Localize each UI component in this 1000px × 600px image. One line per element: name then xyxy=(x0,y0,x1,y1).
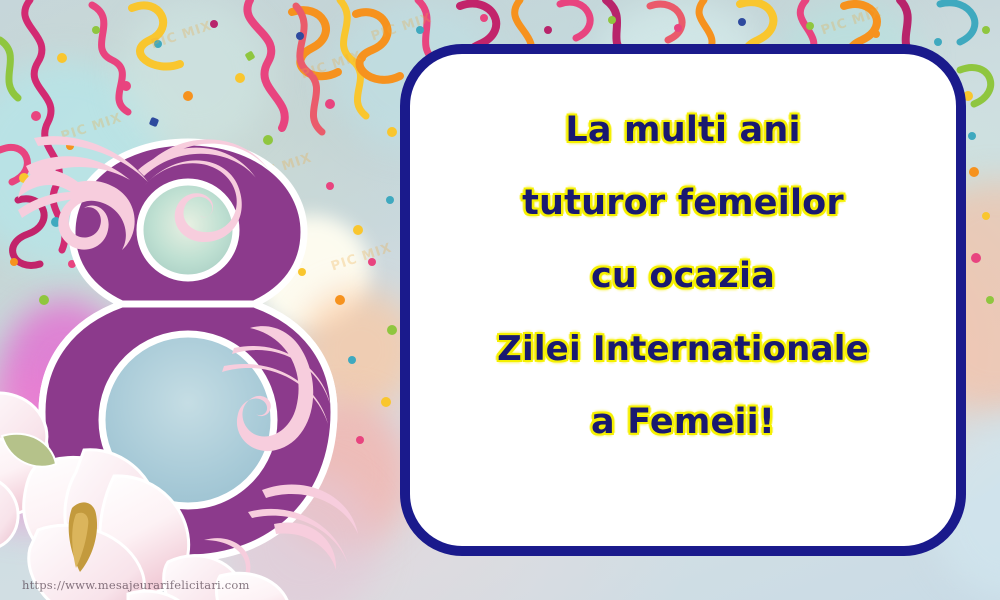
greeting-line-4: Zilei Internationale xyxy=(424,313,942,386)
streamer xyxy=(560,2,590,38)
streamer xyxy=(940,3,975,42)
greeting-line-2: tuturor femeilor xyxy=(424,167,942,240)
greeting-card-panel: La multi ani tuturor femeilor cu ocazia … xyxy=(400,44,966,556)
streamer xyxy=(356,12,400,80)
magnolia-flower-group xyxy=(0,380,340,600)
greeting-message: La multi ani tuturor femeilor cu ocazia … xyxy=(410,94,956,459)
streamer xyxy=(132,5,180,66)
greeting-line-3: cu ocazia xyxy=(424,240,942,313)
greeting-card-scene: PIC MIX PIC MIX PIC MIX PIC MIX PIC MIX … xyxy=(0,0,1000,600)
streamer xyxy=(0,40,18,98)
streamer xyxy=(247,0,284,128)
streamer xyxy=(650,4,682,40)
streamer xyxy=(92,5,128,112)
greeting-line-1: La multi ani xyxy=(424,94,942,167)
greeting-line-5: a Femeii! xyxy=(424,386,942,459)
